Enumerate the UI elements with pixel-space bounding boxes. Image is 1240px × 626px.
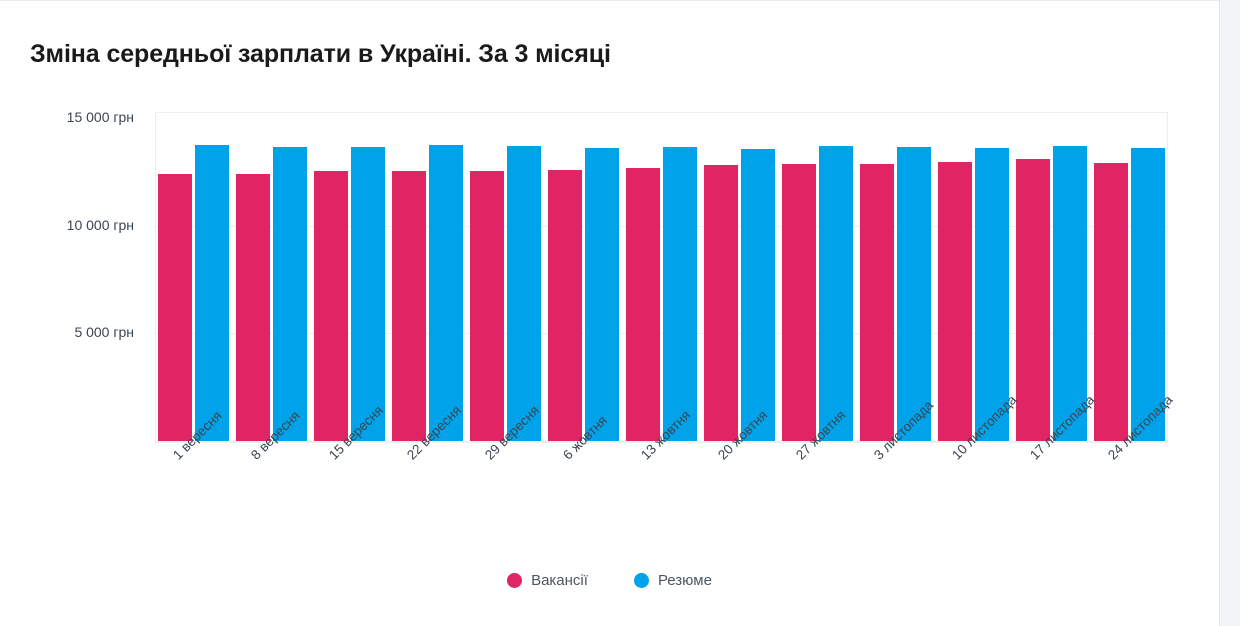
bar-vacancies[interactable] — [314, 171, 348, 441]
bar-resumes[interactable] — [663, 147, 697, 441]
legend-item[interactable]: Вакансії — [507, 572, 588, 589]
bar-group — [782, 112, 853, 441]
bar-vacancies[interactable] — [158, 174, 192, 441]
y-axis-tick-label: 5 000 грн — [74, 324, 134, 340]
bar-resumes[interactable] — [195, 145, 229, 441]
chart-legend: ВакансіїРезюме — [0, 572, 1219, 589]
y-axis-tick-label: 15 000 грн — [67, 109, 134, 125]
bar-vacancies[interactable] — [1016, 159, 1050, 441]
bar-resumes[interactable] — [741, 149, 775, 441]
y-axis-tick-label: 10 000 грн — [67, 217, 134, 233]
legend-item-label: Резюме — [658, 572, 712, 589]
bar-resumes[interactable] — [819, 146, 853, 441]
legend-item-label: Вакансії — [531, 572, 588, 589]
bar-group — [236, 112, 307, 441]
dot-icon — [634, 573, 649, 588]
salary-bar-chart: 15 000 грн10 000 грн5 000 грн 1 вересня8… — [0, 0, 1219, 626]
bar-group — [470, 112, 541, 441]
bar-resumes[interactable] — [351, 147, 385, 441]
chart-page: Зміна середньої зарплати в Україні. За 3… — [0, 0, 1219, 626]
bar-group — [938, 112, 1009, 441]
bar-vacancies[interactable] — [704, 165, 738, 441]
bar-vacancies[interactable] — [782, 164, 816, 441]
bar-vacancies[interactable] — [626, 168, 660, 441]
bar-vacancies[interactable] — [548, 170, 582, 441]
bar-resumes[interactable] — [585, 148, 619, 441]
bar-group — [1016, 112, 1087, 441]
bar-resumes[interactable] — [507, 146, 541, 441]
bar-group — [548, 112, 619, 441]
bar-vacancies[interactable] — [236, 174, 270, 441]
bar-vacancies[interactable] — [1094, 163, 1128, 441]
right-side-rail — [1219, 0, 1240, 626]
dot-icon — [507, 573, 522, 588]
bar-resumes[interactable] — [429, 145, 463, 441]
bar-group — [626, 112, 697, 441]
bar-vacancies[interactable] — [938, 162, 972, 441]
bar-resumes[interactable] — [273, 147, 307, 441]
bar-vacancies[interactable] — [470, 171, 504, 441]
bar-group — [392, 112, 463, 441]
bar-group — [1094, 112, 1165, 441]
legend-item[interactable]: Резюме — [634, 572, 712, 589]
bar-group — [860, 112, 931, 441]
bar-group — [314, 112, 385, 441]
bar-group — [704, 112, 775, 441]
bar-vacancies[interactable] — [392, 171, 426, 441]
bar-vacancies[interactable] — [860, 164, 894, 441]
bar-group — [158, 112, 229, 441]
